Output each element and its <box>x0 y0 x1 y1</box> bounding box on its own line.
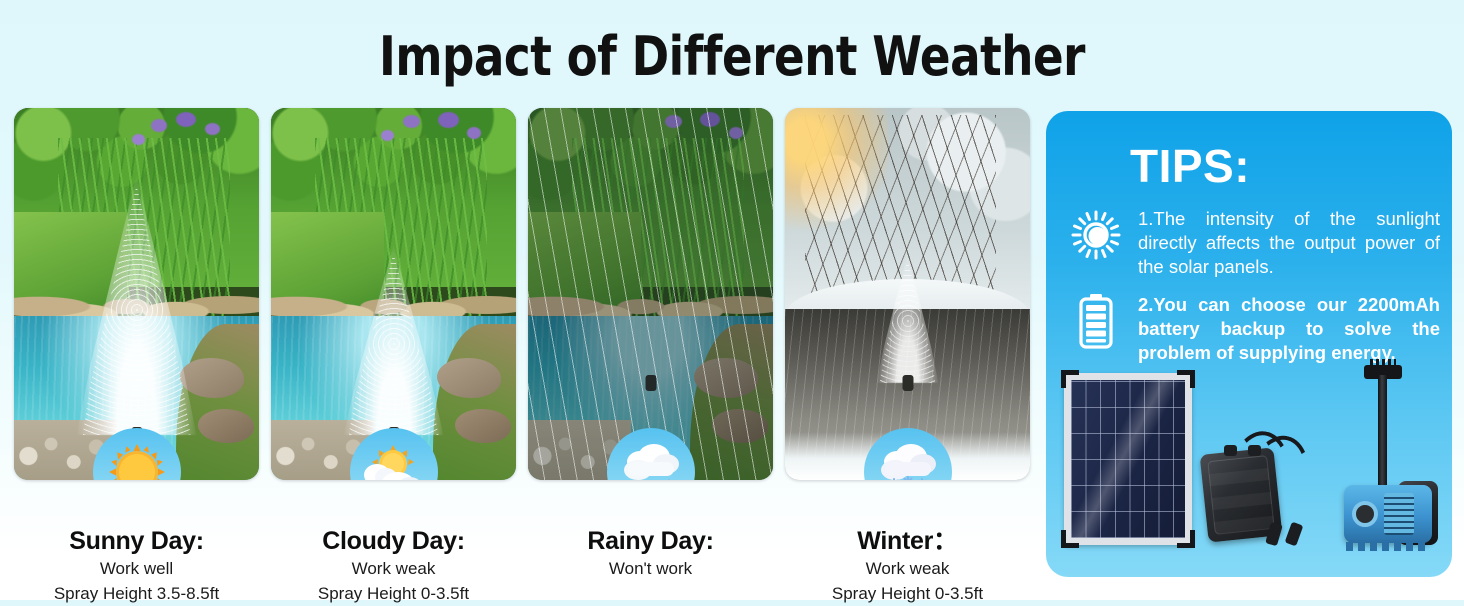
caption-sunny: Sunny Day: Work well Spray Height 3.5-8.… <box>14 526 259 606</box>
sun-behind-cloud-icon <box>362 442 426 480</box>
caption-line-2: Spray Height 3.5-8.5ft <box>14 581 259 606</box>
photo-winter <box>785 108 1030 480</box>
caption-title: Winter： <box>785 526 1030 556</box>
caption-line-2: Spray Height 0-3.5ft <box>271 581 516 606</box>
caption-line-1: Won't work <box>528 556 773 581</box>
caption-line-2: Spray Height 0-3.5ft <box>785 581 1030 606</box>
pond-scene-cloudy <box>271 108 516 480</box>
tips-panel: TIPS: <box>1046 111 1452 577</box>
pond-scene-rainy <box>528 108 773 480</box>
product-solar-panel <box>1064 373 1192 545</box>
product-water-pump <box>1338 363 1438 547</box>
weather-columns: Sunny Day: Work well Spray Height 3.5-8.… <box>14 108 1036 578</box>
photo-sunny <box>14 108 259 480</box>
tip-item-1: 1.The intensity of the sunlight directly… <box>1068 207 1440 279</box>
pond-scene-sunny <box>14 108 259 480</box>
tip-text-2: 2.You can choose our 2200mAh battery bac… <box>1138 293 1440 365</box>
weather-column-cloudy: Cloudy Day: Work weak Spray Height 0-3.5… <box>271 108 516 606</box>
sun-icon <box>1068 207 1124 263</box>
caption-title: Sunny Day: <box>14 526 259 556</box>
tip-item-2: 2.You can choose our 2200mAh battery bac… <box>1068 293 1440 365</box>
caption-title: Rainy Day: <box>528 526 773 556</box>
infographic-page: Impact of Different Weather <box>0 0 1464 600</box>
battery-icon <box>1068 293 1124 349</box>
weather-column-winter: Winter： Work weak Spray Height 0-3.5ft <box>785 108 1030 606</box>
cloud-rain-icon <box>620 442 682 480</box>
caption-winter: Winter： Work weak Spray Height 0-3.5ft <box>785 526 1030 606</box>
product-images <box>1046 359 1452 577</box>
page-title: Impact of Different Weather <box>51 26 1413 88</box>
caption-cloudy: Cloudy Day: Work weak Spray Height 0-3.5… <box>271 526 516 606</box>
caption-line-1: Work weak <box>785 556 1030 581</box>
rain-streaks <box>528 108 773 480</box>
caption-title: Cloudy Day: <box>271 526 516 556</box>
caption-rainy: Rainy Day: Won't work <box>528 526 773 581</box>
weather-column-sunny: Sunny Day: Work well Spray Height 3.5-8.… <box>14 108 259 606</box>
cloud-snow-icon <box>877 442 939 480</box>
caption-line-1: Work well <box>14 556 259 581</box>
product-battery-box <box>1204 433 1322 543</box>
tips-heading: TIPS: <box>1130 141 1250 191</box>
tip-text-1: 1.The intensity of the sunlight directly… <box>1138 207 1440 279</box>
caption-line-1: Work weak <box>271 556 516 581</box>
sun-icon <box>106 441 168 480</box>
photo-cloudy <box>271 108 516 480</box>
weather-column-rainy: Rainy Day: Won't work <box>528 108 773 581</box>
photo-rainy <box>528 108 773 480</box>
pond-scene-winter <box>785 108 1030 480</box>
